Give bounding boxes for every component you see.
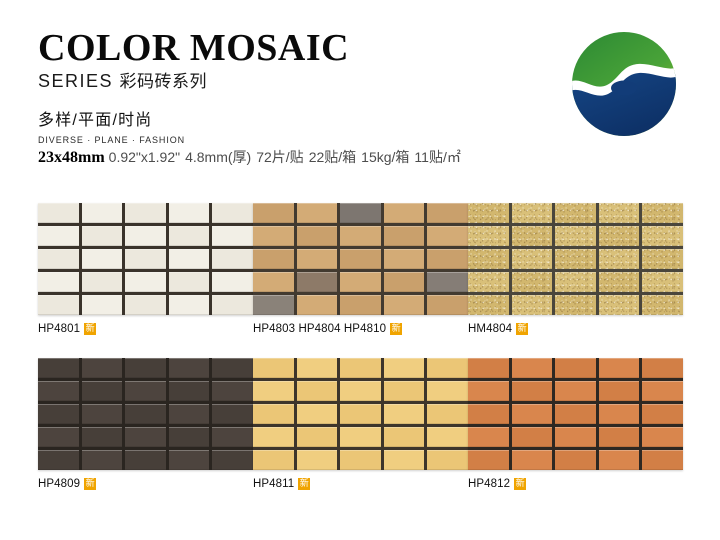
tile-cell <box>642 295 683 315</box>
tile-cell <box>253 226 294 246</box>
tile-cell <box>125 404 166 424</box>
tile-cell <box>125 249 166 269</box>
tile-cell <box>468 381 509 401</box>
tile-cell <box>555 381 596 401</box>
tile-cell <box>38 404 79 424</box>
tile-cell <box>253 404 294 424</box>
tile-cell <box>427 404 468 424</box>
tile-cell <box>125 295 166 315</box>
tile-cell <box>427 203 468 223</box>
tile-accent <box>253 295 294 315</box>
tile-swatch-hp4801[interactable] <box>38 203 253 315</box>
tile-swatch-hm4804[interactable] <box>468 203 683 315</box>
tile-cell <box>512 358 553 378</box>
tile-cell <box>340 381 381 401</box>
tile-cell <box>555 450 596 470</box>
tile-cell <box>169 450 210 470</box>
tile-cell <box>82 295 123 315</box>
tile-cell <box>38 295 79 315</box>
tile-cell <box>642 427 683 447</box>
tile-cell <box>340 226 381 246</box>
tile-cell <box>212 381 253 401</box>
tile-cell <box>427 450 468 470</box>
tile-cell <box>169 358 210 378</box>
tile-cell <box>512 450 553 470</box>
tile-cell <box>125 358 166 378</box>
tile-cell <box>169 226 210 246</box>
tile-cell <box>253 203 294 223</box>
tile-cell <box>169 272 210 292</box>
new-badge: 新 <box>84 323 96 335</box>
tile-cell <box>599 203 640 223</box>
tile-cell <box>38 226 79 246</box>
product-panel-hp4811[interactable]: HP4811新 <box>253 358 468 491</box>
panel-caption-hp4809: HP4809新 <box>38 477 253 491</box>
tile-cell <box>297 450 338 470</box>
product-panel-hm4804[interactable]: HM4804新 <box>468 203 683 336</box>
tile-cell <box>169 295 210 315</box>
tile-cell <box>427 295 468 315</box>
tile-cell <box>125 272 166 292</box>
tile-cell <box>642 404 683 424</box>
panel-caption-hp4811: HP4811新 <box>253 477 468 491</box>
tile-cell <box>599 358 640 378</box>
tile-cell <box>253 249 294 269</box>
catalog-page: COLOR MOSAIC SERIES 彩码砖系列 多样/平面/时尚 DIVER… <box>0 0 720 540</box>
panel-caption-hp4803-4804-4810: HP4803 HP4804 HP4810新 <box>253 322 468 336</box>
tile-accent <box>427 272 468 292</box>
tile-cell <box>212 427 253 447</box>
product-code-label: HP4809 <box>38 477 80 491</box>
new-badge: 新 <box>390 323 402 335</box>
tile-cell <box>599 450 640 470</box>
product-code-label: HP4801 <box>38 322 80 336</box>
tile-cell <box>512 381 553 401</box>
new-badge: 新 <box>516 323 528 335</box>
tile-cell <box>340 450 381 470</box>
tile-cell <box>384 272 425 292</box>
tile-cell <box>212 203 253 223</box>
tile-cell <box>297 427 338 447</box>
tile-mosaic-grid <box>468 358 683 470</box>
tile-cell <box>169 404 210 424</box>
tile-cell <box>125 450 166 470</box>
tile-cell <box>169 249 210 269</box>
tile-cell <box>427 249 468 269</box>
tile-accent <box>297 272 338 292</box>
tile-cell <box>384 404 425 424</box>
tile-cell <box>253 381 294 401</box>
tile-cell <box>642 203 683 223</box>
tile-cell <box>599 249 640 269</box>
tile-cell <box>340 295 381 315</box>
product-code-label: HP4812 <box>468 477 510 491</box>
tile-cell <box>169 203 210 223</box>
tile-cell <box>212 272 253 292</box>
product-panel-hp4801[interactable]: HP4801新 <box>38 203 253 336</box>
tile-cell <box>253 358 294 378</box>
tile-cell <box>82 404 123 424</box>
tile-cell <box>82 427 123 447</box>
tile-cell <box>125 381 166 401</box>
tile-cell <box>82 203 123 223</box>
tile-cell <box>468 249 509 269</box>
tile-cell <box>642 249 683 269</box>
tile-mosaic-grid <box>38 203 253 315</box>
tile-cell <box>599 381 640 401</box>
product-panel-grid: HP4801新HP4803 HP4804 HP4810新HM4804新HP480… <box>0 0 720 540</box>
tile-cell <box>212 358 253 378</box>
tile-cell <box>297 358 338 378</box>
tile-cell <box>642 272 683 292</box>
tile-cell <box>297 203 338 223</box>
tile-cell <box>38 203 79 223</box>
tile-cell <box>340 358 381 378</box>
tile-cell <box>599 272 640 292</box>
tile-cell <box>340 404 381 424</box>
tile-cell <box>599 295 640 315</box>
tile-cell <box>38 358 79 378</box>
tile-cell <box>82 381 123 401</box>
tile-cell <box>427 358 468 378</box>
tile-cell <box>642 450 683 470</box>
tile-cell <box>642 358 683 378</box>
product-panel-hp4803-4804-4810[interactable]: HP4803 HP4804 HP4810新 <box>253 203 468 336</box>
tile-cell <box>125 203 166 223</box>
tile-cell <box>212 404 253 424</box>
tile-cell <box>555 203 596 223</box>
tile-cell <box>125 226 166 246</box>
tile-cell <box>253 427 294 447</box>
tile-cell <box>38 272 79 292</box>
tile-cell <box>82 450 123 470</box>
tile-cell <box>427 226 468 246</box>
tile-cell <box>468 203 509 223</box>
product-code-label: HM4804 <box>468 322 512 336</box>
tile-cell <box>38 381 79 401</box>
tile-cell <box>297 295 338 315</box>
tile-cell <box>340 272 381 292</box>
tile-cell <box>297 404 338 424</box>
tile-cell <box>512 295 553 315</box>
product-panel-hp4812[interactable]: HP4812新 <box>468 358 683 491</box>
tile-cell <box>384 450 425 470</box>
tile-accent <box>340 203 381 223</box>
tile-cell <box>169 427 210 447</box>
tile-mosaic-grid <box>253 203 468 315</box>
tile-cell <box>555 295 596 315</box>
tile-cell <box>468 404 509 424</box>
tile-swatch-hp4811[interactable] <box>253 358 468 470</box>
tile-cell <box>82 226 123 246</box>
panel-caption-hm4804: HM4804新 <box>468 322 683 336</box>
tile-cell <box>555 427 596 447</box>
tile-cell <box>38 450 79 470</box>
tile-cell <box>555 226 596 246</box>
tile-cell <box>340 249 381 269</box>
tile-cell <box>82 272 123 292</box>
tile-cell <box>384 381 425 401</box>
tile-cell <box>512 404 553 424</box>
tile-cell <box>38 249 79 269</box>
tile-cell <box>384 427 425 447</box>
tile-cell <box>555 358 596 378</box>
tile-cell <box>555 404 596 424</box>
tile-cell <box>82 249 123 269</box>
tile-cell <box>212 450 253 470</box>
tile-cell <box>468 450 509 470</box>
tile-cell <box>297 381 338 401</box>
tile-cell <box>642 226 683 246</box>
tile-cell <box>512 226 553 246</box>
tile-cell <box>212 295 253 315</box>
tile-cell <box>169 381 210 401</box>
tile-swatch-hp4803-4804-4810[interactable] <box>253 203 468 315</box>
tile-cell <box>599 427 640 447</box>
tile-cell <box>468 358 509 378</box>
tile-cell <box>468 295 509 315</box>
new-badge: 新 <box>298 478 310 490</box>
tile-cell <box>384 358 425 378</box>
product-code-label: HP4803 HP4804 HP4810 <box>253 322 386 336</box>
tile-cell <box>212 249 253 269</box>
tile-cell <box>125 427 166 447</box>
tile-mosaic-grid <box>468 203 683 315</box>
tile-cell <box>297 226 338 246</box>
panel-caption-hp4812: HP4812新 <box>468 477 683 491</box>
tile-cell <box>253 272 294 292</box>
tile-cell <box>340 427 381 447</box>
tile-cell <box>384 203 425 223</box>
tile-cell <box>427 427 468 447</box>
tile-cell <box>555 249 596 269</box>
tile-cell <box>212 226 253 246</box>
tile-mosaic-grid <box>38 358 253 470</box>
tile-swatch-hp4812[interactable] <box>468 358 683 470</box>
tile-cell <box>38 427 79 447</box>
tile-cell <box>512 203 553 223</box>
tile-cell <box>384 295 425 315</box>
tile-cell <box>512 427 553 447</box>
panel-caption-hp4801: HP4801新 <box>38 322 253 336</box>
tile-swatch-hp4809[interactable] <box>38 358 253 470</box>
product-code-label: HP4811 <box>253 477 294 491</box>
tile-cell <box>427 381 468 401</box>
tile-cell <box>468 427 509 447</box>
tile-cell <box>384 249 425 269</box>
tile-mosaic-grid <box>253 358 468 470</box>
tile-cell <box>253 450 294 470</box>
tile-cell <box>297 249 338 269</box>
tile-cell <box>384 226 425 246</box>
tile-cell <box>512 249 553 269</box>
tile-cell <box>555 272 596 292</box>
tile-cell <box>468 272 509 292</box>
new-badge: 新 <box>514 478 526 490</box>
tile-cell <box>642 381 683 401</box>
tile-cell <box>599 404 640 424</box>
tile-cell <box>599 226 640 246</box>
tile-cell <box>468 226 509 246</box>
tile-cell <box>82 358 123 378</box>
product-panel-hp4809[interactable]: HP4809新 <box>38 358 253 491</box>
new-badge: 新 <box>84 478 96 490</box>
tile-cell <box>512 272 553 292</box>
